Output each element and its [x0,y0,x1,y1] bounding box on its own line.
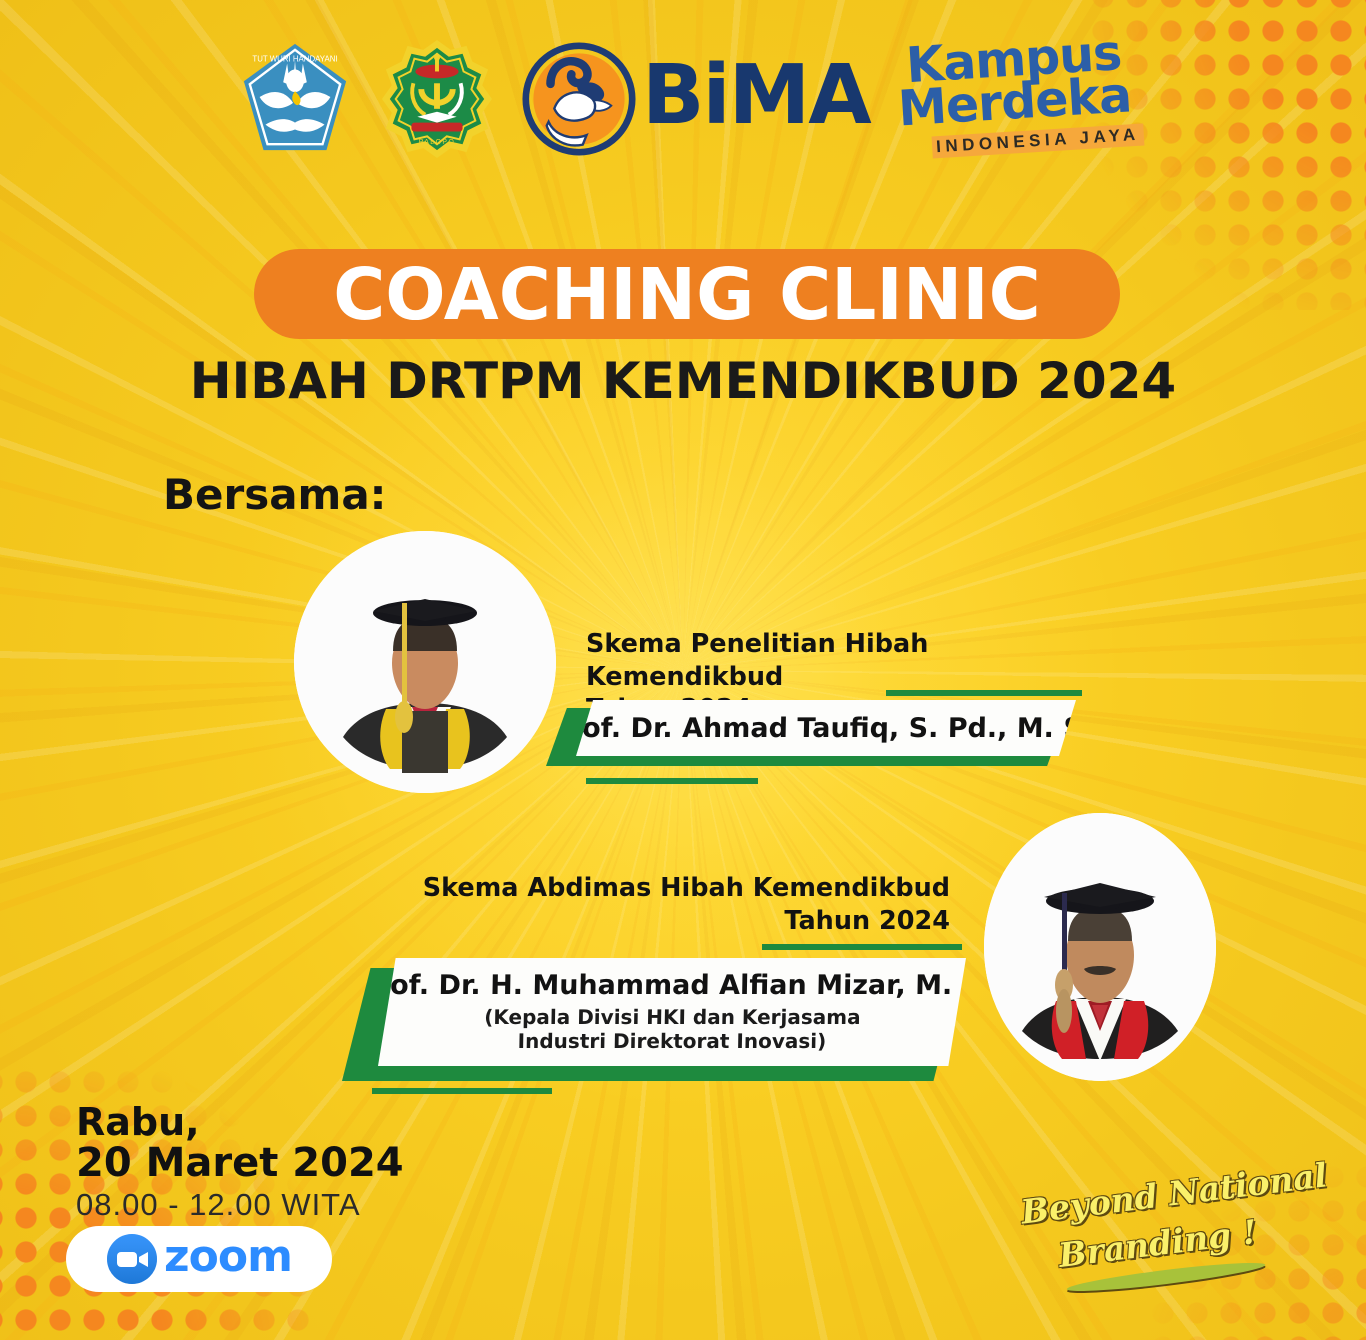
bersama-label: Bersama: [163,470,386,519]
event-day: Rabu, [76,1102,404,1142]
speaker-one-dash-bottom [586,778,758,784]
logo-row: TUT WURI HANDAYANI PALOP [236,34,1196,164]
speaker-two-role: (Kepala Divisi HKI dan Kerjasama Industr… [483,1006,860,1053]
speaker-two-avatar [984,813,1216,1081]
event-date: 20 Maret 2024 [76,1142,404,1185]
bima-wordmark: BiMA [642,55,870,137]
page-subtitle: HIBAH DRTPM KEMENDIKBUD 2024 [0,352,1366,410]
speaker-two-role-line1: (Kepala Divisi HKI dan Kerjasama [484,1005,861,1029]
kampus-merdeka-logo: Kampus Merdeka INDONESIA JAYA [898,38,1144,151]
speaker-two-banner-white-shape: Prof. Dr. H. Muhammad Alfian Mizar, M. P… [378,958,966,1066]
speaker-two-scheme: Skema Abdimas Hibah Kemendikbud Tahun 20… [350,872,950,938]
speaker-two-name-banner: Prof. Dr. H. Muhammad Alfian Mizar, M. P… [342,958,978,1086]
tagline: Beyond National Branding ! [1014,1172,1310,1288]
svg-text:TUT WURI HANDAYANI: TUT WURI HANDAYANI [252,55,337,64]
speaker-two-dash-top [762,944,962,950]
speaker-one-avatar [294,531,556,793]
speaker-one-name: Prof. Dr. Ahmad Taufiq, S. Pd., M. Si. [549,713,1103,744]
speaker-one-banner-white-shape: Prof. Dr. Ahmad Taufiq, S. Pd., M. Si. [576,700,1076,756]
bima-bird-mark-icon [522,42,636,156]
speaker-two-scheme-line2: Tahun 2024 [350,905,950,938]
speaker-one-name-banner: Prof. Dr. Ahmad Taufiq, S. Pd., M. Si. [546,700,1086,770]
event-datetime: Rabu, 20 Maret 2024 08.00 - 12.00 WITA [76,1102,404,1223]
speaker-one-scheme-line1: Skema Penelitian Hibah Kemendikbud [586,628,1086,693]
speaker-one-dash-top [886,690,1082,696]
tut-wuri-handayani-logo: TUT WURI HANDAYANI [236,40,354,158]
university-crest-logo: PALOPO [378,38,496,160]
bima-logo: BiMA [522,42,870,156]
poster-canvas: TUT WURI HANDAYANI PALOP [0,0,1366,1340]
zoom-wordmark: zoom [164,1235,292,1279]
speaker-two-name: Prof. Dr. H. Muhammad Alfian Mizar, M. P… [357,970,987,1001]
event-time: 08.00 - 12.00 WITA [76,1187,404,1223]
zoom-camera-icon [106,1233,158,1285]
svg-text:PALOPO: PALOPO [419,139,456,146]
kampus-merdeka-line2: Merdeka [897,73,1145,130]
speaker-two-dash-bottom [372,1088,552,1094]
zoom-platform-badge: zoom [66,1226,332,1292]
page-title: COACHING CLINIC [254,249,1120,339]
speaker-two-scheme-line1: Skema Abdimas Hibah Kemendikbud [350,872,950,905]
speaker-two-role-line2: Industri Direktorat Inovasi) [517,1029,826,1053]
